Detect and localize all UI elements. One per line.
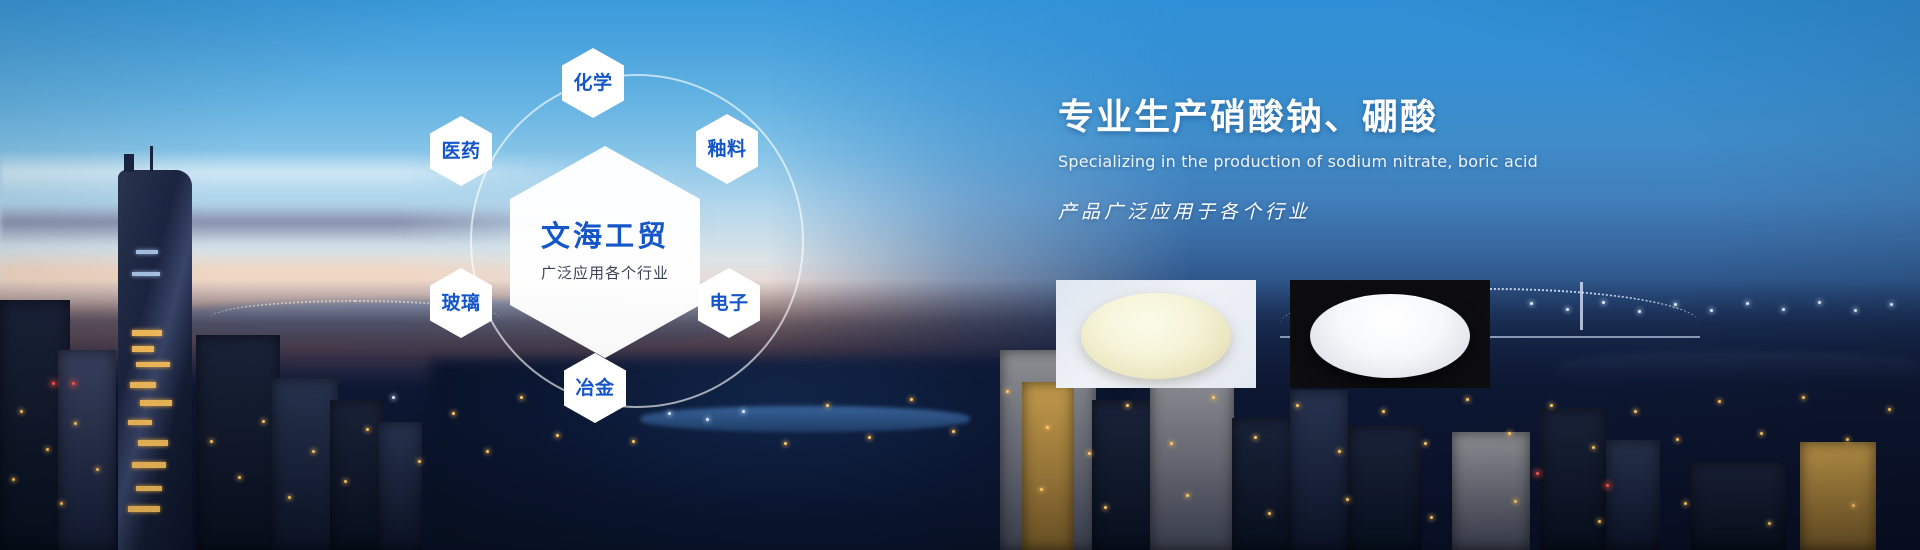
tagline: 产品广泛应用于各个行业 (1058, 197, 1838, 224)
marketing-copy: 专业生产硝酸钠、硼酸 Specializing in the productio… (1058, 96, 1838, 224)
building (1150, 368, 1234, 550)
brand-name: 文海工贸 (541, 221, 669, 253)
hex-node-label: 医药 (441, 142, 480, 161)
product-photo-boric-acid (1290, 280, 1490, 388)
building (1022, 382, 1074, 550)
hex-node-label: 釉料 (707, 140, 746, 159)
skyscraper-antenna (150, 146, 153, 172)
signature-skyscraper (118, 170, 192, 550)
hex-node-label: 电子 (709, 294, 748, 313)
brand-tagline: 广泛应用各个行业 (541, 262, 669, 283)
promotional-banner: 化学 釉料 电子 冶金 玻璃 医药 文海工贸 广泛应用各个行业 专业生产硝酸钠、… (0, 0, 1920, 550)
building (1232, 418, 1294, 550)
building (272, 378, 338, 550)
building (1348, 426, 1422, 550)
hex-node-label: 冶金 (575, 379, 614, 398)
powder-pile (1310, 294, 1470, 378)
cityscape-photo (0, 0, 1920, 550)
powder-pile (1081, 293, 1231, 379)
building (1606, 440, 1660, 550)
building (196, 335, 280, 550)
subheadline-english: Specializing in the production of sodium… (1058, 152, 1838, 171)
building (1800, 442, 1876, 550)
building (1540, 408, 1606, 550)
headline: 专业生产硝酸钠、硼酸 (1058, 96, 1838, 139)
hex-node-label: 化学 (573, 74, 612, 93)
building (330, 400, 384, 550)
building (1452, 432, 1530, 550)
product-photo-group (1056, 280, 1490, 388)
building (58, 350, 116, 550)
building (1690, 462, 1786, 550)
product-photo-sodium-nitrate (1056, 280, 1256, 388)
industry-hex-diagram: 化学 釉料 电子 冶金 玻璃 医药 文海工贸 广泛应用各个行业 (430, 28, 930, 448)
building (378, 422, 422, 550)
hex-node-label: 玻璃 (441, 294, 480, 313)
building (1290, 390, 1348, 550)
